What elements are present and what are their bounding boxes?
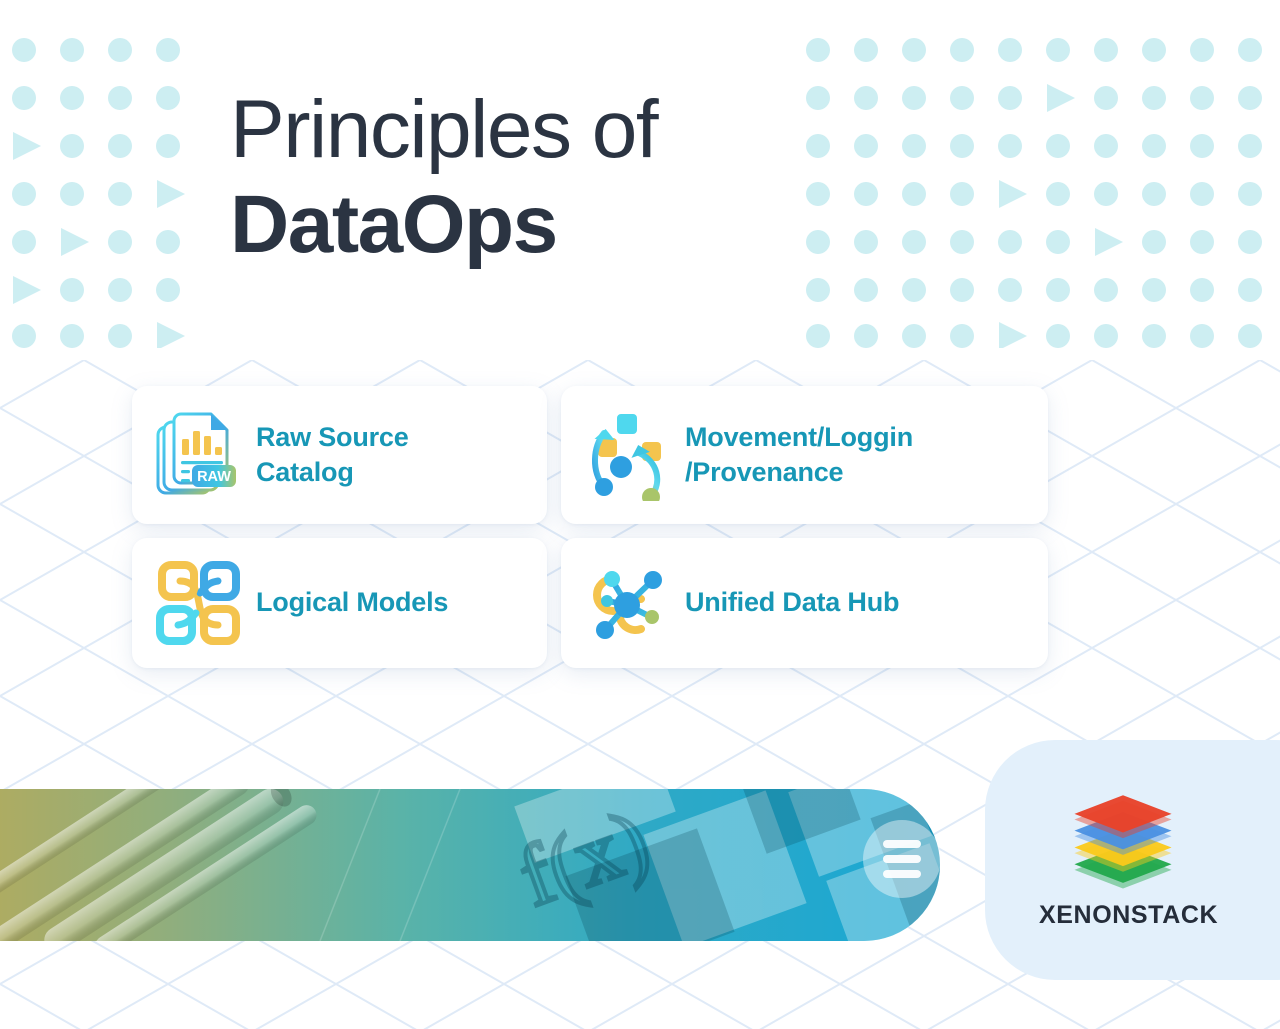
page-title: Principles of DataOps bbox=[230, 86, 770, 269]
abstract-3d-pipes-banner: f(x) bbox=[0, 789, 940, 941]
title-line-1: Principles of bbox=[230, 86, 770, 175]
brand-panel: XENONSTACK bbox=[985, 740, 1280, 980]
principle-card-logical-models[interactable]: Logical Models bbox=[132, 538, 547, 668]
card-label-logical-models: Logical Models bbox=[256, 585, 448, 620]
card-label-movement-logging-provenance: Movement/Loggin /Provenance bbox=[685, 420, 913, 490]
principle-card-raw-source-catalog[interactable]: RAW Raw Source Catalog bbox=[132, 386, 547, 524]
decorative-dot-grid-left bbox=[12, 38, 202, 353]
hub-spoke-network-icon bbox=[579, 555, 675, 651]
raw-badge-text: RAW bbox=[197, 469, 231, 485]
menu-bar-3 bbox=[883, 870, 921, 878]
hamburger-menu-button[interactable] bbox=[863, 820, 941, 898]
decorative-dot-grid-right bbox=[806, 38, 1280, 353]
card-label-raw-source-catalog: Raw Source Catalog bbox=[256, 420, 409, 490]
brand-wordmark: XENONSTACK bbox=[1039, 901, 1209, 930]
title-line-2: DataOps bbox=[230, 181, 770, 270]
menu-bar-1 bbox=[883, 840, 921, 848]
document-chart-raw-icon: RAW bbox=[150, 407, 246, 503]
data-movement-arrows-icon bbox=[579, 407, 675, 503]
principle-card-unified-data-hub[interactable]: Unified Data Hub bbox=[561, 538, 1048, 668]
card-label-unified-data-hub: Unified Data Hub bbox=[685, 585, 899, 620]
infographic-canvas: Principles of DataOps bbox=[0, 0, 1280, 1029]
menu-bar-2 bbox=[883, 855, 921, 863]
xenonstack-logo-icon bbox=[1067, 791, 1179, 889]
principle-card-movement-logging-provenance[interactable]: Movement/Loggin /Provenance bbox=[561, 386, 1048, 524]
node-graph-icon bbox=[150, 555, 246, 651]
